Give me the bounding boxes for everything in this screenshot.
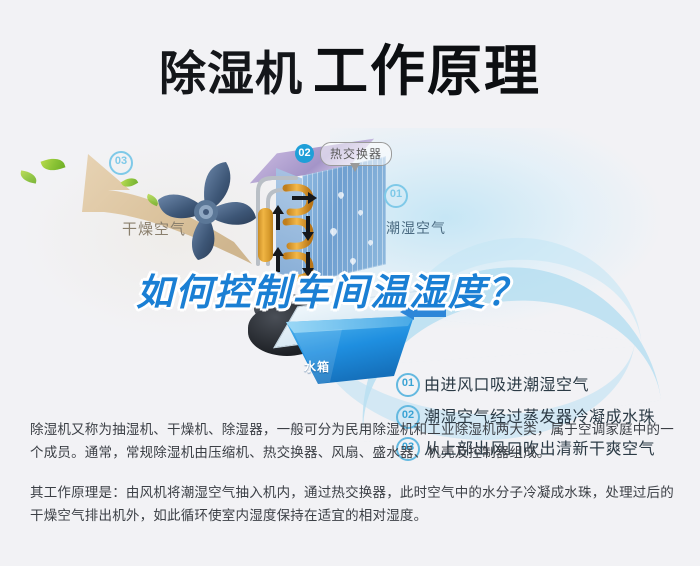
dry-air-badge: 03 (109, 151, 133, 175)
dry-air-label: 干燥空气 (122, 218, 186, 239)
heat-exchanger-badge: 02 (295, 144, 314, 163)
paragraph-2: 其工作原理是：由风机将潮湿空气抽入机内，通过热交换器，此时空气中的水分子冷凝成水… (30, 481, 674, 527)
step-text: 由进风口吸进潮湿空气 (424, 371, 589, 395)
overlay-headline: 如何控制车间温湿度？ (136, 262, 526, 316)
humid-air-badge: 01 (384, 184, 408, 208)
compressor-cylinder (258, 208, 273, 262)
list-item: 01 由进风口吸进潮湿空气 (396, 368, 696, 400)
page-title-part1: 除湿机 (159, 47, 303, 100)
dehumidifier-diagram: 水箱 03 干燥空气 02 热交换器 01 潮湿空气 01 由进风口吸进潮湿空气… (0, 118, 700, 398)
heat-exchanger-callout-tail (350, 163, 360, 172)
paragraph-1: 除湿机又称为抽湿机、干燥机、除湿器，一般可分为民用除湿机和工业除湿机两大类，属于… (30, 418, 674, 464)
header: 除湿机工作原理 (0, 0, 700, 120)
water-tank-label: 水箱 (304, 358, 330, 375)
dehumidifier-machine: 水箱 (238, 136, 448, 386)
overlay-headline-text: 如何控制车间温湿度？ (136, 272, 526, 313)
humid-air-label: 潮湿空气 (386, 218, 446, 238)
body-copy: 除湿机又称为抽湿机、干燥机、除湿器，一般可分为民用除湿机和工业除湿机两大类，属于… (30, 418, 674, 527)
step-number: 01 (396, 373, 420, 397)
page-title: 除湿机工作原理 (0, 26, 700, 106)
page-title-part2: 工作原理 (313, 40, 541, 102)
